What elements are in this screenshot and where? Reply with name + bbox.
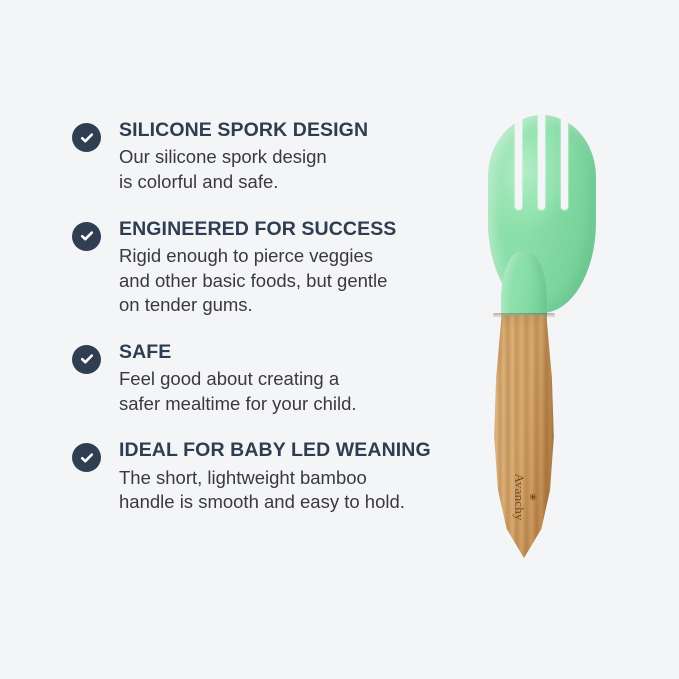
feature-body-line: and other basic foods, but gentle — [119, 269, 472, 294]
feature-title: SAFE — [119, 340, 472, 364]
feature-body-line: The short, lightweight bamboo — [119, 466, 472, 491]
feature-item: SAFE Feel good about creating a safer me… — [72, 340, 472, 417]
check-circle-icon — [72, 345, 101, 374]
feature-body: The short, lightweight bamboo handle is … — [119, 466, 472, 515]
feature-body: Rigid enough to pierce veggies and other… — [119, 244, 472, 318]
feature-body-line: is colorful and safe. — [119, 170, 472, 195]
spork-tine-slot — [515, 113, 522, 210]
check-circle-icon — [72, 222, 101, 251]
feature-item: SILICONE SPORK DESIGN Our silicone spork… — [72, 118, 472, 195]
feature-title: ENGINEERED FOR SUCCESS — [119, 217, 472, 241]
feature-list: SILICONE SPORK DESIGN Our silicone spork… — [72, 118, 472, 515]
check-circle-icon — [72, 443, 101, 472]
spork-tine-slot — [561, 113, 568, 210]
feature-title: SILICONE SPORK DESIGN — [119, 118, 472, 142]
feature-item: IDEAL FOR BABY LED WEANING The short, li… — [72, 438, 472, 515]
feature-body-line: Our silicone spork design — [119, 145, 472, 170]
spork-tine-slot — [538, 113, 545, 210]
product-image-spork: ❀ Avanchy — [470, 100, 645, 580]
feature-body-line: Rigid enough to pierce veggies — [119, 244, 472, 269]
feature-body-line: safer mealtime for your child. — [119, 392, 472, 417]
feature-title: IDEAL FOR BABY LED WEANING — [119, 438, 472, 462]
feature-item: ENGINEERED FOR SUCCESS Rigid enough to p… — [72, 217, 472, 318]
feature-body: Feel good about creating a safer mealtim… — [119, 367, 472, 416]
feature-body-line: handle is smooth and easy to hold. — [119, 490, 472, 515]
spork-bamboo-handle — [493, 315, 555, 558]
feature-body-line: Feel good about creating a — [119, 367, 472, 392]
check-circle-icon — [72, 123, 101, 152]
feature-body: Our silicone spork design is colorful an… — [119, 145, 472, 194]
feature-body-line: on tender gums. — [119, 293, 472, 318]
product-feature-panel: SILICONE SPORK DESIGN Our silicone spork… — [0, 0, 679, 679]
